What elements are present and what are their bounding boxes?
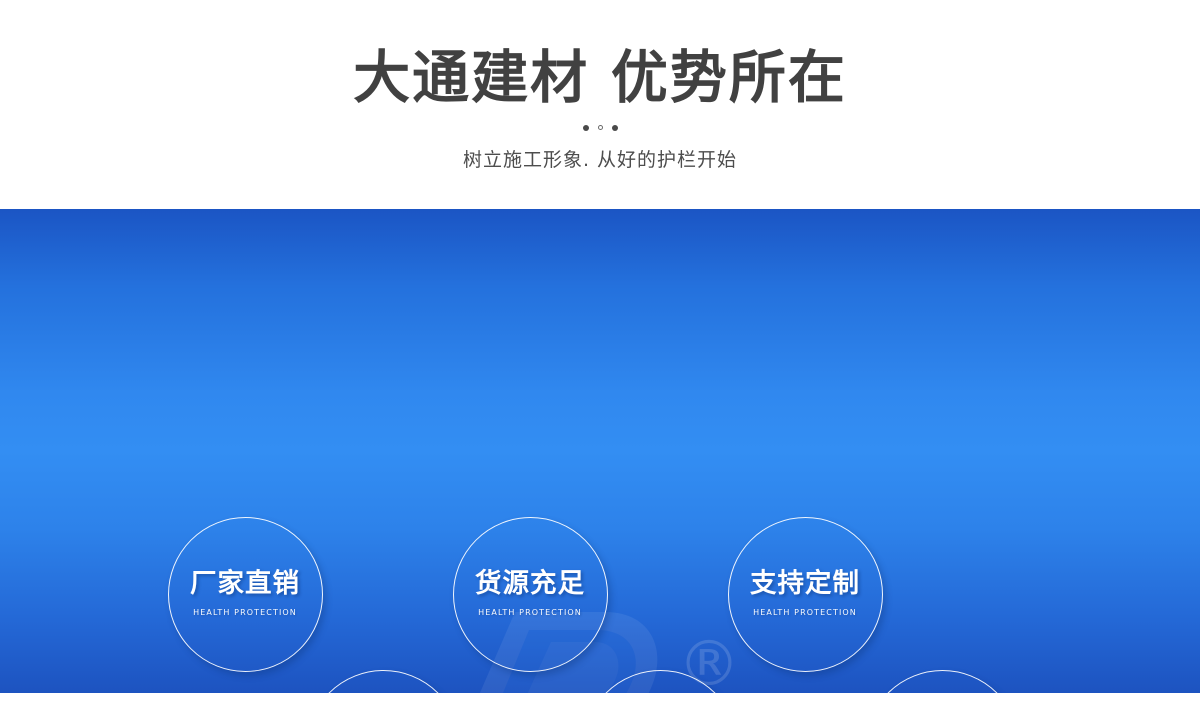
promo-banner: 大通建材 优势所在 树立施工形象. 从好的护栏开始 ® 大通建材 NG CONS… <box>0 0 1200 711</box>
feature-circle-2[interactable]: 货源充足 HEALTH PROTECTION <box>453 517 608 672</box>
feature-caption: HEALTH PROTECTION <box>753 608 857 617</box>
feature-caption: HEALTH PROTECTION <box>193 608 297 617</box>
page-title: 大通建材 优势所在 <box>353 49 847 109</box>
feature-title: 支持定制 <box>750 571 860 598</box>
header-section: 大通建材 优势所在 树立施工形象. 从好的护栏开始 <box>0 0 1200 209</box>
dot-filled-left <box>583 125 589 131</box>
dot-hollow-center <box>598 125 603 130</box>
dot-separator <box>583 123 618 133</box>
feature-caption: HEALTH PROTECTION <box>478 608 582 617</box>
feature-circle-5[interactable]: 款式多样 HEALTH PROTECTION <box>583 670 738 694</box>
feature-circle-4[interactable]: 品质保障 HEALTH PROTECTION <box>306 670 461 694</box>
dot-filled-right <box>612 125 618 131</box>
feature-title: 厂家直销 <box>190 571 300 598</box>
feature-title: 货源充足 <box>475 571 585 598</box>
feature-circle-3[interactable]: 支持定制 HEALTH PROTECTION <box>728 517 883 672</box>
feature-circle-1[interactable]: 厂家直销 HEALTH PROTECTION <box>168 517 323 672</box>
page-subtitle: 树立施工形象. 从好的护栏开始 <box>463 145 737 172</box>
features-panel: ® 大通建材 NG CONSTRUCTION MA 厂家直销 HEALTH PR… <box>0 209 1200 693</box>
feature-circle-6[interactable]: 烤漆工艺 HEALTH PROTECTION <box>865 670 1020 694</box>
